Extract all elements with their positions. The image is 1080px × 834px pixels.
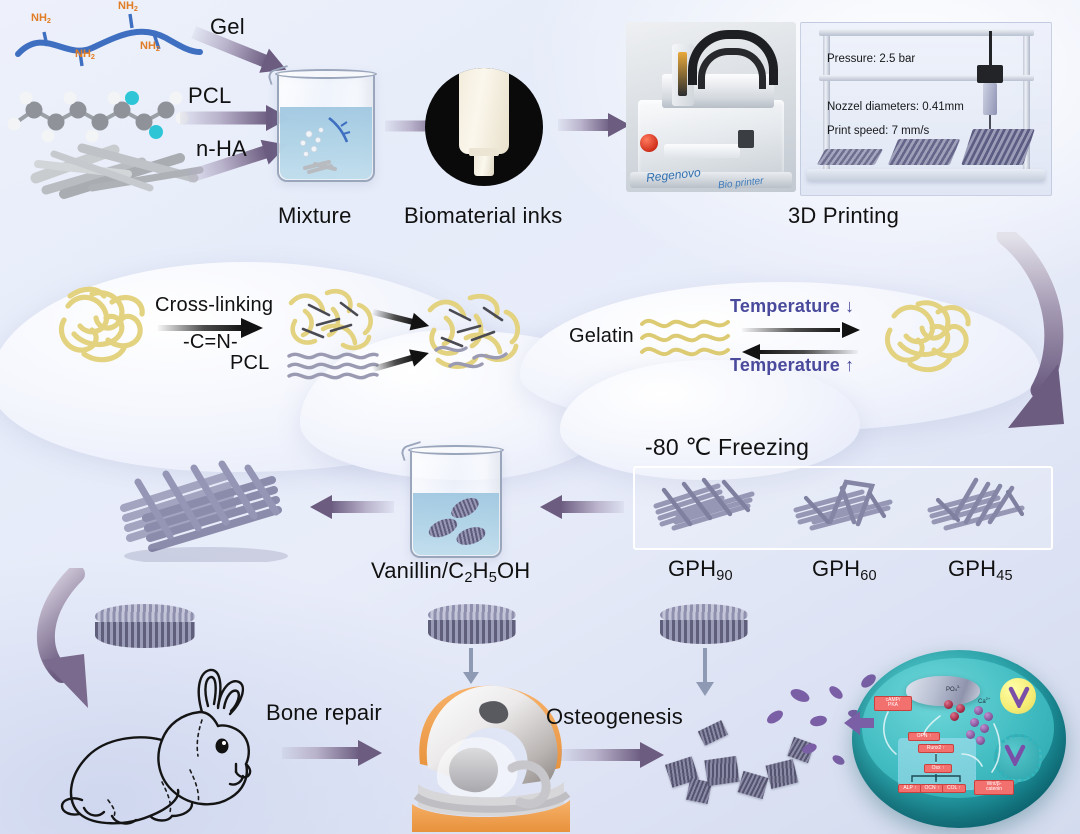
- printer-panel: [738, 130, 754, 148]
- cell-particle-3: [809, 714, 828, 727]
- gph45-sub: 45: [996, 568, 1013, 584]
- scaffold-gph45-svg: [920, 472, 1044, 538]
- inks-to-printer-arrow: [558, 113, 630, 137]
- pcl-wave-label: PCL: [230, 352, 270, 375]
- scaffold-fragment-4: [737, 771, 768, 799]
- disk-side: [660, 620, 748, 644]
- scaffold-fragment-5: [766, 759, 799, 789]
- flow-arrow-right-curved: [948, 232, 1078, 442]
- printer-estop-button: [640, 134, 658, 152]
- final-scaffold-svg: [108, 452, 304, 562]
- bone-repair-arrow: [282, 740, 382, 766]
- schematic-print-head: [977, 65, 1003, 83]
- schematic-scaffold-mid: [888, 139, 961, 165]
- gph60-label: GPH60: [812, 556, 877, 584]
- mixture-beaker: [277, 72, 375, 182]
- print-param-pressure: Pressure: 2.5 bar: [827, 53, 915, 65]
- scaffold-disk-center: [428, 604, 516, 644]
- schematic-scaffold-flat: [817, 149, 884, 165]
- scaffold-gph45: [920, 472, 1044, 538]
- osteogenesis-label: Osteogenesis: [546, 704, 683, 730]
- vanillin-beaker: [410, 448, 502, 558]
- scaffold-gph60: [784, 472, 908, 538]
- gelatin-coil-icon: [50, 282, 160, 372]
- mixture-caption: Mixture: [278, 203, 352, 229]
- bioprinter-photo: Regenovo Bio printer: [626, 22, 796, 192]
- beaker-contents-icon: [285, 112, 367, 178]
- cell-particle-1: [765, 708, 786, 726]
- nh2-label-4: NH2: [140, 40, 160, 53]
- print-param-speed: Print speed: 7 mm/s: [827, 125, 929, 137]
- crosslink-label: Cross-linking: [155, 294, 273, 317]
- biomaterial-inks-photo: [425, 68, 543, 186]
- osteoblast-cell: PO43- Ca2+ cAMP/PKA OPN ↑ Runx2 ↑ Osx ↑ …: [852, 650, 1066, 828]
- gel-label: Gel: [210, 14, 245, 40]
- temperature-up-label: Temperature ↑: [730, 355, 854, 376]
- scaffold-fragment-6: [698, 720, 728, 746]
- scaffold-gph90: [644, 472, 768, 538]
- schematic-feed-cable: [989, 31, 992, 67]
- frame-build-plate: [807, 169, 1045, 181]
- disk-to-cell-arrow: [696, 648, 714, 696]
- freezing-label: -80 ℃ Freezing: [645, 434, 809, 461]
- nha-label: n-HA: [196, 136, 247, 162]
- print-param-nozzle: Nozzel diameters: 0.41mm: [827, 101, 964, 113]
- freezing-to-vanillin-arrow: [540, 495, 624, 519]
- printing-schematic: Pressure: 2.5 bar Nozzel diameters: 0.41…: [800, 22, 1052, 196]
- pcl-wave-icon: [285, 348, 381, 382]
- printer-bed: [664, 144, 740, 158]
- vanillin-to-scaffold-arrow: [310, 495, 394, 519]
- nh2-label-3: NH2: [118, 0, 138, 13]
- gph60-sub: 60: [860, 568, 877, 584]
- ion-uptake-arrow: [842, 706, 876, 740]
- ink-syringe-collar: [469, 148, 499, 156]
- disk-side: [95, 622, 195, 648]
- bone-repair-label: Bone repair: [266, 700, 382, 726]
- scaffold-disk-left: [95, 604, 195, 648]
- gph90-label: GPH90: [668, 556, 733, 584]
- frame-beam-top: [819, 29, 1034, 36]
- printer-body: [638, 100, 784, 174]
- gph60-name: GPH: [812, 556, 860, 581]
- schematic-cartridge: [983, 83, 997, 115]
- temperature-down-arrow: [742, 322, 860, 338]
- temperature-down-label: Temperature ↓: [730, 296, 854, 317]
- molecule-ball-stick-icon: [4, 88, 194, 146]
- scaffold-disk-right: [660, 604, 748, 644]
- pcl-label: PCL: [188, 83, 231, 109]
- gelatin-strands-icon: [638, 314, 734, 360]
- osteogenesis-arrow: [560, 742, 664, 768]
- gph45-label: GPH45: [948, 556, 1013, 584]
- nanorod-bundle-icon: [30, 140, 210, 200]
- gph90-name: GPH: [668, 556, 716, 581]
- graphical-abstract-figure: NH2 NH2 NH2 NH2: [0, 0, 1080, 834]
- vanillin-caption: Vanillin/C2H5OH: [371, 558, 530, 586]
- signalling-paths: [852, 650, 1066, 828]
- nh2-label-2: NH2: [75, 48, 95, 61]
- rabbit-icon: [50, 660, 270, 830]
- scaffold-gph60-svg: [784, 472, 908, 538]
- printer-nozzle-tip: [678, 52, 687, 96]
- cell-particle-4: [827, 684, 845, 701]
- schematic-scaffold-tall: [961, 129, 1035, 165]
- scaffold-gph90-svg: [644, 472, 768, 538]
- final-scaffold: [108, 452, 304, 562]
- nh2-label-1: NH2: [31, 12, 51, 25]
- inks-caption: Biomaterial inks: [404, 203, 562, 229]
- cell-particle-2: [789, 686, 812, 704]
- disk-side: [428, 620, 516, 644]
- scaffold-fragment-3: [704, 756, 739, 786]
- gph45-name: GPH: [948, 556, 996, 581]
- cell-particle-8: [831, 753, 846, 766]
- printing-caption: 3D Printing: [788, 203, 899, 229]
- gelatin-label: Gelatin: [569, 325, 634, 348]
- gph90-sub: 90: [716, 568, 733, 584]
- knee-joint-icon: [394, 664, 586, 834]
- composite-network-icon: [420, 288, 530, 380]
- crosslink-bond-label: -C=N-: [183, 331, 238, 354]
- ink-syringe-body: [459, 68, 509, 154]
